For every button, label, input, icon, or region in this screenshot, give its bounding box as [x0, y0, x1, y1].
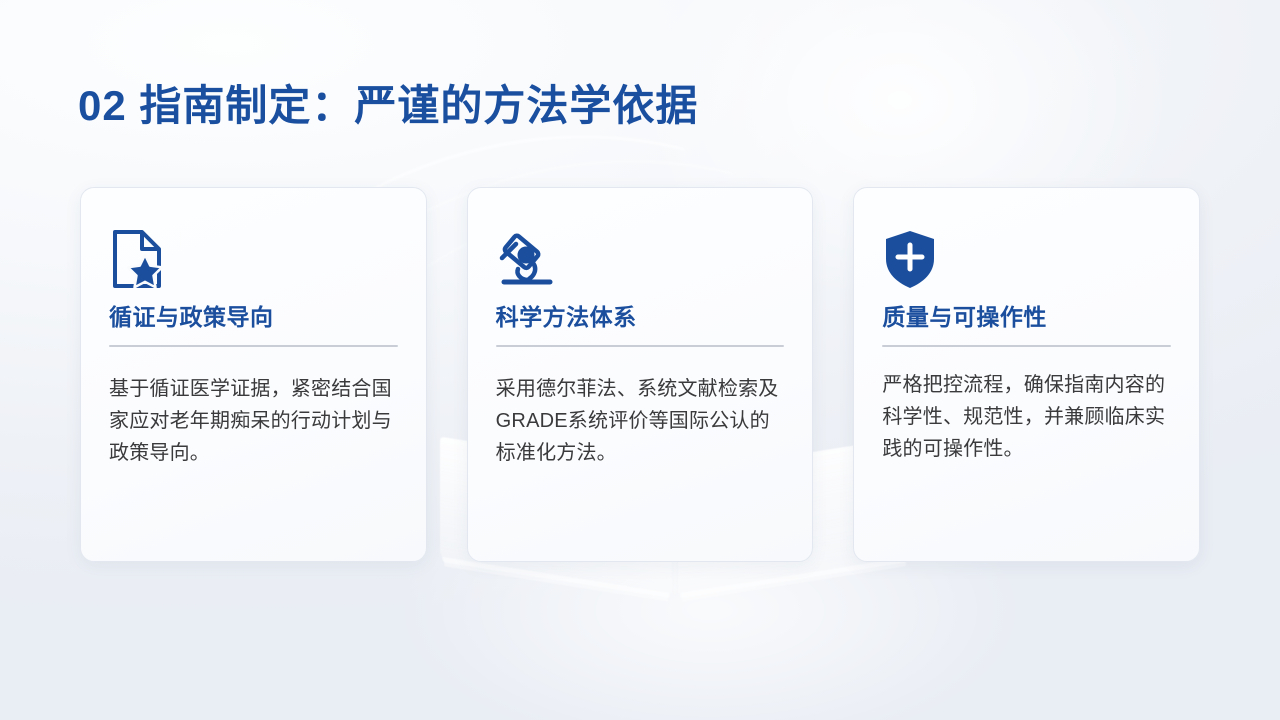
microscope-icon [496, 228, 785, 290]
card-title: 质量与可操作性 [882, 304, 1171, 332]
card-divider [882, 345, 1171, 347]
page-title: 02 指南制定：严谨的方法学依据 [78, 72, 698, 133]
feature-card-evidence-policy[interactable]: 循证与政策导向 基于循证医学证据，紧密结合国家应对老年期痴呆的行动计划与政策导向… [80, 187, 427, 562]
card-body-text: 基于循证医学证据，紧密结合国家应对老年期痴呆的行动计划与政策导向。 [109, 373, 398, 470]
card-title: 科学方法体系 [496, 304, 785, 332]
slide-canvas: 02 指南制定：严谨的方法学依据 循证与政策导向 基于循证医学证据，紧密结合国家… [0, 0, 1280, 720]
shield-plus-icon [882, 228, 1171, 290]
feature-card-quality-operability[interactable]: 质量与可操作性 严格把控流程，确保指南内容的科学性、规范性，并兼顾临床实践的可操… [853, 187, 1200, 562]
card-body-text: 采用德尔菲法、系统文献检索及GRADE系统评价等国际公认的标准化方法。 [496, 373, 785, 470]
card-divider [496, 345, 785, 347]
card-title: 循证与政策导向 [109, 304, 398, 332]
card-row: 循证与政策导向 基于循证医学证据，紧密结合国家应对老年期痴呆的行动计划与政策导向… [80, 187, 1200, 562]
document-star-icon [109, 228, 398, 290]
feature-card-scientific-method[interactable]: 科学方法体系 采用德尔菲法、系统文献检索及GRADE系统评价等国际公认的标准化方… [467, 187, 814, 562]
card-divider [109, 345, 398, 347]
card-body-text: 严格把控流程，确保指南内容的科学性、规范性，并兼顾临床实践的可操作性。 [882, 369, 1171, 466]
